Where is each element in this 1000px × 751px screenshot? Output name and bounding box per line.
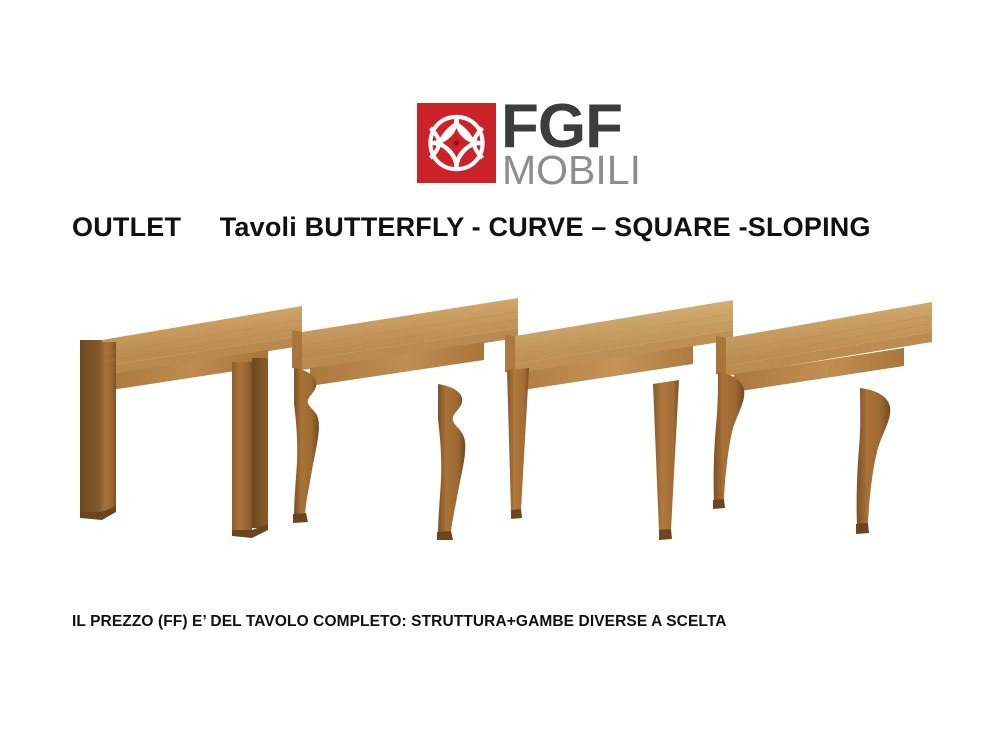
price-note: IL PREZZO (FF) E’ DEL TAVOLO COMPLETO: S…	[72, 613, 727, 631]
product-figure-strip	[60, 280, 940, 540]
table-figure-curve	[288, 280, 518, 540]
table-figure-sloping	[710, 280, 940, 540]
brand-wordmark: FGF MOBILI	[501, 100, 641, 200]
brand-wordmark-secondary: MOBILI	[502, 150, 641, 191]
table-figure-butterfly	[72, 280, 302, 540]
table-figure-square	[503, 280, 733, 540]
page-title: OUTLET Tavoli BUTTERFLY - CURVE – SQUARE…	[72, 212, 871, 243]
brand-logo: FGF MOBILI	[417, 100, 637, 200]
fgf-quatrefoil-mark-icon	[417, 103, 496, 183]
